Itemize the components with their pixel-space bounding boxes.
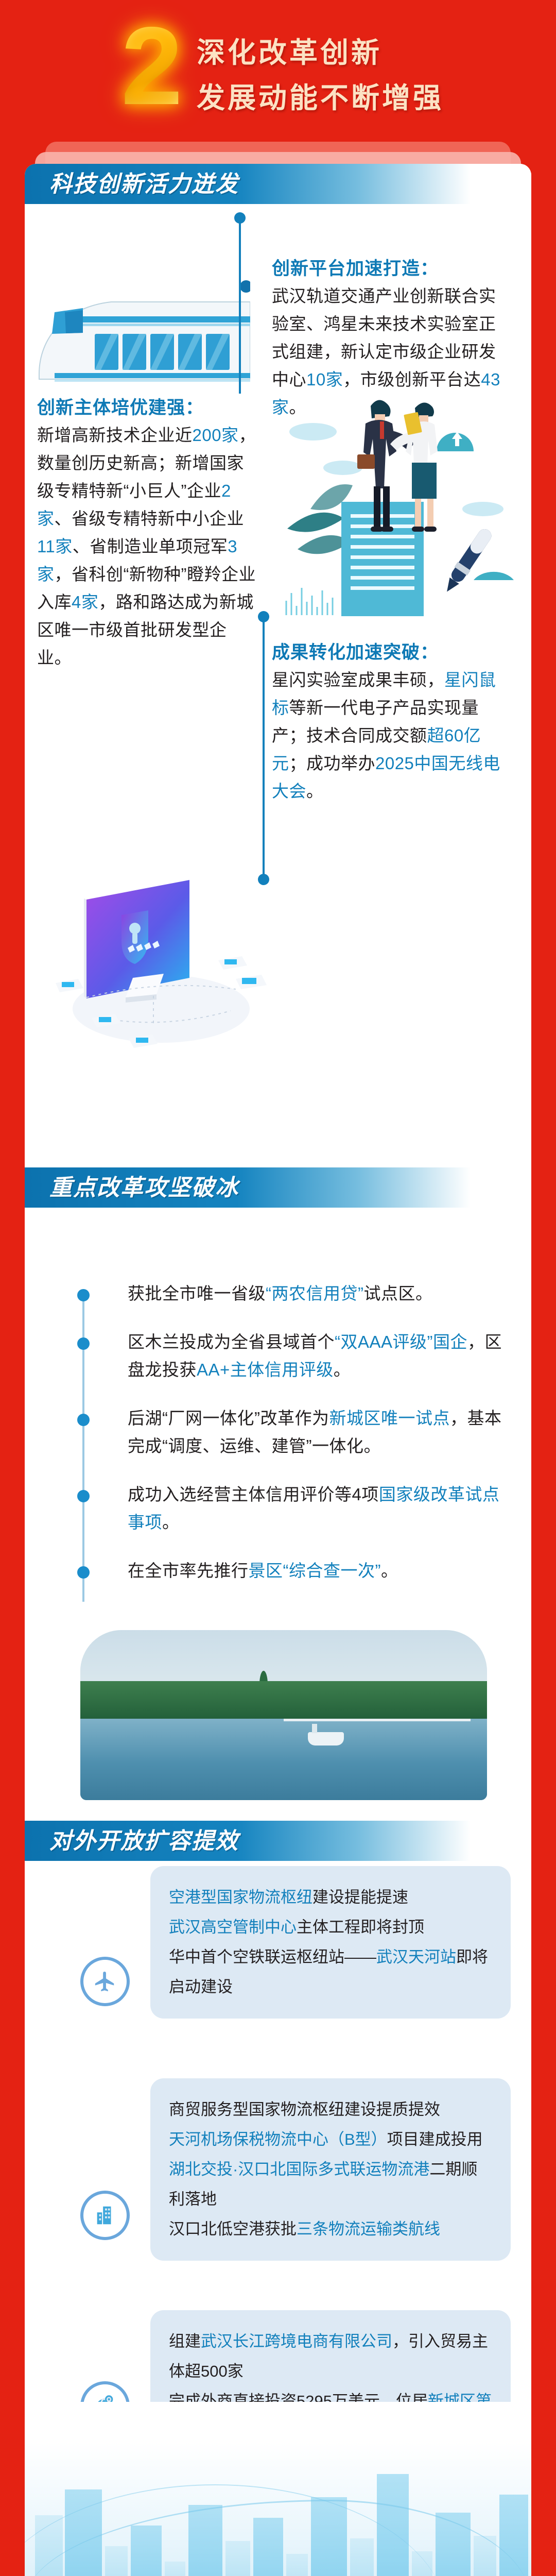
photo-boat <box>308 1732 344 1745</box>
plain-text: 。 <box>334 1360 351 1379</box>
hero-title-line1: 深化改革创新 <box>197 30 526 75</box>
bullet-text: 在全市率先推行景区“综合查一次”。 <box>128 1561 398 1580</box>
section-body-open-up: 空港型国家物流枢纽建设提能提速 武汉高空管制中心主体工程即将封顶 华中首个空铁联… <box>25 1861 531 2576</box>
bullet-text: 后湖“厂网一体化”改革作为新城区唯一试点，基本完成“调度、运维、建管”一体化。 <box>128 1409 501 1455</box>
section-header-key-reform: 重点改革攻坚破冰 <box>25 1167 531 1208</box>
list-item: 区木兰投成为全省县域首个“双AAA评级”国企，区盘龙投获AA+主体信用评级。 <box>102 1328 514 1384</box>
section-title-sci-tech: 科技创新活力迸发 <box>49 169 239 200</box>
plain-text: 星闪实验室成果丰硕， <box>272 670 444 689</box>
building-icon <box>80 2191 130 2240</box>
connector-line-1 <box>239 218 241 394</box>
section-title-key-reform: 重点改革攻坚破冰 <box>49 1173 239 1204</box>
section-title-open-up: 对外开放扩容提效 <box>49 1826 239 1857</box>
plain-text: 试点区。 <box>363 1284 432 1303</box>
open-card-airport: 空港型国家物流枢纽建设提能提速 武汉高空管制中心主体工程即将封顶 华中首个空铁联… <box>150 1866 511 2019</box>
section-body-key-reform: 获批全市唯一省级“两农信用贷”试点区。 区木兰投成为全省县域首个“双AAA评级”… <box>25 1208 531 1821</box>
plain-text: 获批全市唯一省级 <box>128 1284 266 1303</box>
airplane-icon <box>80 1957 130 2006</box>
open-card-logistics: 商贸服务型国家物流枢纽建设提质提效 天河机场保税物流中心（B型）项目建成投用 湖… <box>150 2078 511 2261</box>
highlight-text: 新城区唯一试点 <box>329 1409 450 1428</box>
highlight-text: 200家 <box>193 426 239 445</box>
highlight-text: 4家 <box>72 592 98 612</box>
list-item: 获批全市唯一省级“两农信用贷”试点区。 <box>102 1280 514 1308</box>
highlight-text: 11家 <box>37 537 73 556</box>
hero-title-line2: 发展动能不断增强 <box>197 75 526 121</box>
list-item: 成功入选经营主体信用评价等4项国家级改革试点事项。 <box>102 1481 514 1536</box>
bullet-dot <box>77 1414 90 1426</box>
block-lead-innovation-subject: 创新主体培优建强： <box>37 395 258 421</box>
highlight-text: 天河机场保税物流中心（B型） <box>169 2130 387 2148</box>
block-lead-achievement-transform: 成果转化加速突破： <box>272 639 509 666</box>
bullet-text: 区木兰投成为全省县域首个“双AAA评级”国企，区盘龙投获AA+主体信用评级。 <box>128 1332 502 1379</box>
plain-text: 成功入选经营主体信用评价等4项 <box>128 1485 379 1504</box>
connector-dot-2 <box>258 611 269 622</box>
highlight-text: “两农信用贷” <box>266 1284 363 1303</box>
handshake-contract-illustration <box>282 374 514 616</box>
plain-text: 组建 <box>169 2332 201 2350</box>
card-line: 组建武汉长江跨境电商有限公司，引入贸易主体超500家 <box>169 2327 492 2386</box>
plain-text: 新增高新技术企业近 <box>37 426 193 445</box>
bullet-dot <box>77 1337 90 1350</box>
bullet-text: 成功入选经营主体信用评价等4项国家级改革试点事项。 <box>128 1485 499 1532</box>
plain-text: 。 <box>162 1513 180 1532</box>
section-body-sci-tech: 创新平台加速打造： 武汉轨道交通产业创新联合实验室、鸿星未来技术实验室正式组建，… <box>25 204 531 1167</box>
highlight-text: 景区“综合查一次” <box>249 1561 381 1580</box>
plain-text: 项目建成投用 <box>387 2130 483 2148</box>
section-number: 2 <box>98 14 206 117</box>
highlight-text: 空港型国家物流枢纽 <box>169 1888 312 1906</box>
card-line: 天河机场保税物流中心（B型）项目建成投用 <box>169 2125 492 2155</box>
bullet-dot <box>77 1289 90 1301</box>
plain-text: 主体工程即将封顶 <box>297 1918 424 1936</box>
plain-text: 区木兰投成为全省县域首个 <box>128 1332 335 1351</box>
plain-text: 汉口北低空港获批 <box>169 2220 297 2238</box>
list-item: 在全市率先推行景区“综合查一次”。 <box>102 1557 514 1585</box>
plain-text: 商贸服务型国家物流枢纽建设提质提效 <box>169 2100 440 2119</box>
photo-tree-line <box>80 1681 487 1719</box>
hero-banner: 2 深化改革创新 发展动能不断增强 <box>0 0 556 155</box>
plain-text: 在全市率先推行 <box>128 1561 249 1580</box>
highlight-text: 武汉长江跨境电商有限公司 <box>201 2332 392 2350</box>
reform-bullet-list: 获批全市唯一省级“两农信用贷”试点区。 区木兰投成为全省县域首个“双AAA评级”… <box>102 1280 514 1605</box>
city-skyline-illustration <box>25 2402 531 2576</box>
plain-text: 。 <box>306 782 324 801</box>
photo-water <box>80 1719 487 1800</box>
block-achievement-transform: 成果转化加速突破： 星闪实验室成果丰硕，星闪鼠标等新一代电子产品实现量产；技术合… <box>272 639 509 805</box>
content-sheet: 科技创新活力迸发 <box>25 164 531 2576</box>
connector-dot-1 <box>234 212 246 224</box>
highlight-text: 三条物流运输类航线 <box>297 2220 440 2238</box>
plain-text: 后湖“厂网一体化”改革作为 <box>128 1409 329 1428</box>
block-body-achievement-transform: 星闪实验室成果丰硕，星闪鼠标等新一代电子产品实现量产；技术合同成交额超60亿元；… <box>272 666 509 805</box>
highlight-text: 武汉高空管制中心 <box>169 1918 297 1936</box>
highlight-text: AA+主体信用评级 <box>197 1360 334 1379</box>
highlight-text: 武汉天河站 <box>376 1948 456 1966</box>
block-innovation-subject: 创新主体培优建强： 新增高新技术企业近200家，数量创历史新高；新增国家级专精特… <box>37 395 258 672</box>
highlight-text: “双AAA评级”国企 <box>335 1332 467 1351</box>
bullet-dot <box>77 1566 90 1579</box>
highlight-text: 湖北交投·汉口北国际多式联运物流港 <box>169 2160 429 2178</box>
plain-text: 、省级专精特新中小企业 <box>55 509 245 528</box>
high-speed-train-illustration <box>34 276 250 395</box>
plain-text: 华中首个空铁联运枢纽站—— <box>169 1948 376 1966</box>
lake-scenery-photo <box>80 1630 487 1800</box>
infographic-page: { "hero": { "number": "2", "line1": "深化改… <box>0 0 556 2576</box>
block-lead-innovation-platform: 创新平台加速打造： <box>272 256 509 282</box>
block-body-innovation-subject: 新增高新技术企业近200家，数量创历史新高；新增国家级专精特新“小巨人”企业2家… <box>37 421 258 672</box>
bullet-text: 获批全市唯一省级“两农信用贷”试点区。 <box>128 1284 432 1303</box>
list-item: 后湖“厂网一体化”改革作为新城区唯一试点，基本完成“调度、运维、建管”一体化。 <box>102 1404 514 1460</box>
hero-title: 深化改革创新 发展动能不断增强 <box>197 30 526 121</box>
section-header-open-up: 对外开放扩容提效 <box>25 1821 531 1861</box>
plain-text: 建设提能提速 <box>312 1888 408 1906</box>
plain-text: ；成功举办 <box>289 754 376 773</box>
card-line: 华中首个空铁联运枢纽站——武汉天河站即将启动建设 <box>169 1942 492 2002</box>
section-header-sci-tech: 科技创新活力迸发 <box>25 164 531 204</box>
card-line: 空港型国家物流枢纽建设提能提速 <box>169 1883 492 1912</box>
bullet-dot <box>77 1490 90 1502</box>
card-line: 武汉高空管制中心主体工程即将封顶 <box>169 1912 492 1942</box>
card-line: 湖北交投·汉口北国际多式联运物流港二期顺利落地 <box>169 2155 492 2214</box>
plain-text: 、省制造业单项冠军 <box>73 537 228 556</box>
connector-line-2 <box>263 616 265 884</box>
security-network-illustration <box>56 869 267 1054</box>
photo-railing <box>284 1719 471 1721</box>
plain-text: 。 <box>381 1561 398 1580</box>
card-line: 汉口北低空港获批三条物流运输类航线 <box>169 2214 492 2244</box>
card-line: 商贸服务型国家物流枢纽建设提质提效 <box>169 2095 492 2125</box>
